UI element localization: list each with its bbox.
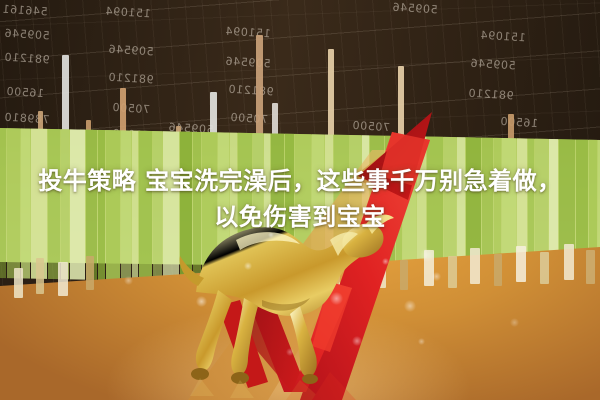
bokeh-dot bbox=[418, 338, 425, 345]
bokeh-dot bbox=[244, 262, 252, 270]
bokeh-dot bbox=[196, 296, 207, 307]
headline-line-2: 以免伤害到宝宝 bbox=[0, 199, 600, 235]
banner-image: 5461611510945095465095461510941510949812… bbox=[0, 0, 600, 400]
bokeh-dot bbox=[330, 292, 343, 305]
page-title: 投牛策略 宝宝洗完澡后，这些事千万别急着做， 以免伤害到宝宝 bbox=[0, 163, 600, 235]
bokeh-dot bbox=[124, 276, 133, 285]
bokeh-dot bbox=[286, 348, 294, 356]
bokeh-dot bbox=[382, 258, 389, 265]
bokeh-dot bbox=[352, 336, 362, 346]
bokeh-dot bbox=[404, 300, 416, 312]
bokeh-dot bbox=[432, 272, 441, 281]
bokeh-dot bbox=[420, 248, 434, 262]
bokeh-dot bbox=[510, 318, 519, 327]
headline-line-1: 投牛策略 宝宝洗完澡后，这些事千万别急着做， bbox=[0, 163, 600, 199]
